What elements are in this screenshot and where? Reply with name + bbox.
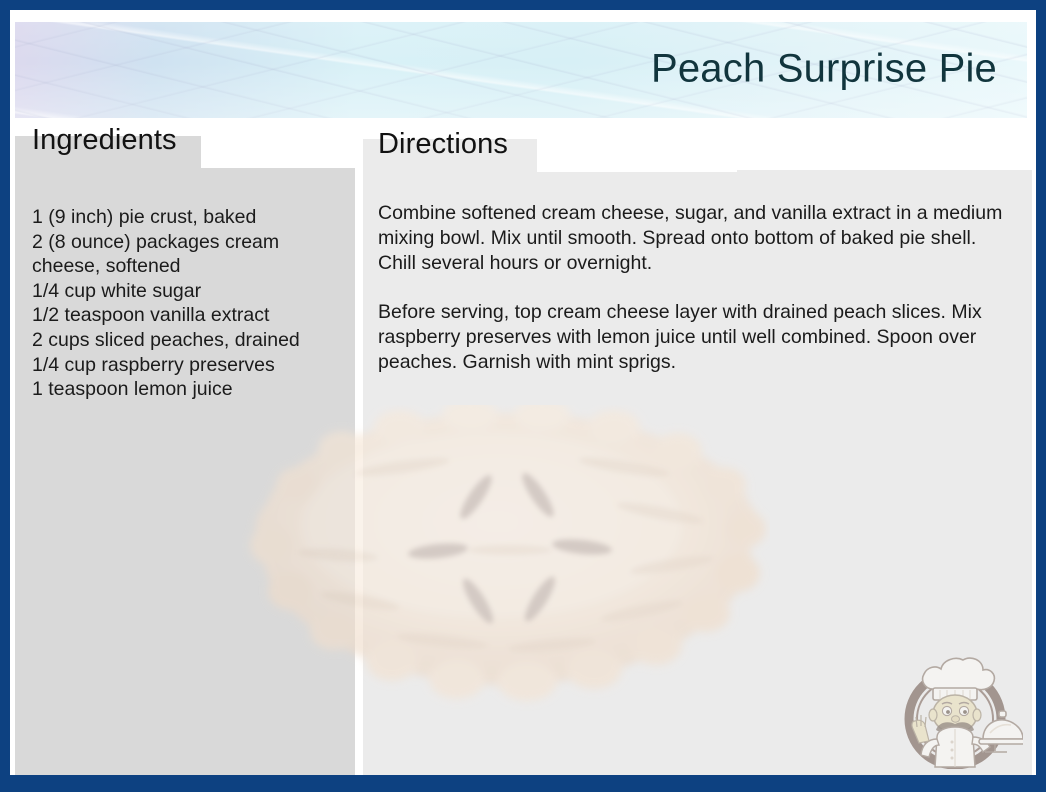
directions-tab: Directions xyxy=(363,139,537,172)
directions-body: Combine softened cream cheese, sugar, an… xyxy=(378,201,1010,375)
list-item: 1/4 cup white sugar xyxy=(32,279,348,304)
directions-tab-notch xyxy=(537,139,737,172)
ingredients-tab: Ingredients xyxy=(15,136,201,167)
recipe-card: Peach Surprise Pie xyxy=(0,0,1046,792)
list-item: cheese, softened xyxy=(32,254,348,279)
ingredients-tab-notch xyxy=(201,136,359,168)
list-item: 1/4 cup raspberry preserves xyxy=(32,353,348,378)
list-item: 1/2 teaspoon vanilla extract xyxy=(32,303,348,328)
ingredients-panel: 1 (9 inch) pie crust, baked 2 (8 ounce) … xyxy=(15,165,355,775)
chef-mascot-logo xyxy=(895,645,1023,769)
list-item: 1 teaspoon lemon juice xyxy=(32,377,348,402)
ingredients-tab-label: Ingredients xyxy=(32,124,177,157)
list-item: 2 cups sliced peaches, drained xyxy=(32,328,348,353)
page-surface: Peach Surprise Pie xyxy=(10,10,1036,775)
directions-tab-label: Directions xyxy=(378,128,508,161)
ingredients-list: 1 (9 inch) pie crust, baked 2 (8 ounce) … xyxy=(32,205,348,402)
list-item: 2 (8 ounce) packages cream xyxy=(32,230,348,255)
directions-paragraph: Combine softened cream cheese, sugar, an… xyxy=(378,201,1010,275)
directions-paragraph: Before serving, top cream cheese layer w… xyxy=(378,300,1010,374)
header-banner: Peach Surprise Pie xyxy=(15,22,1027,118)
page-title: Peach Surprise Pie xyxy=(651,47,997,92)
list-item: 1 (9 inch) pie crust, baked xyxy=(32,205,348,230)
